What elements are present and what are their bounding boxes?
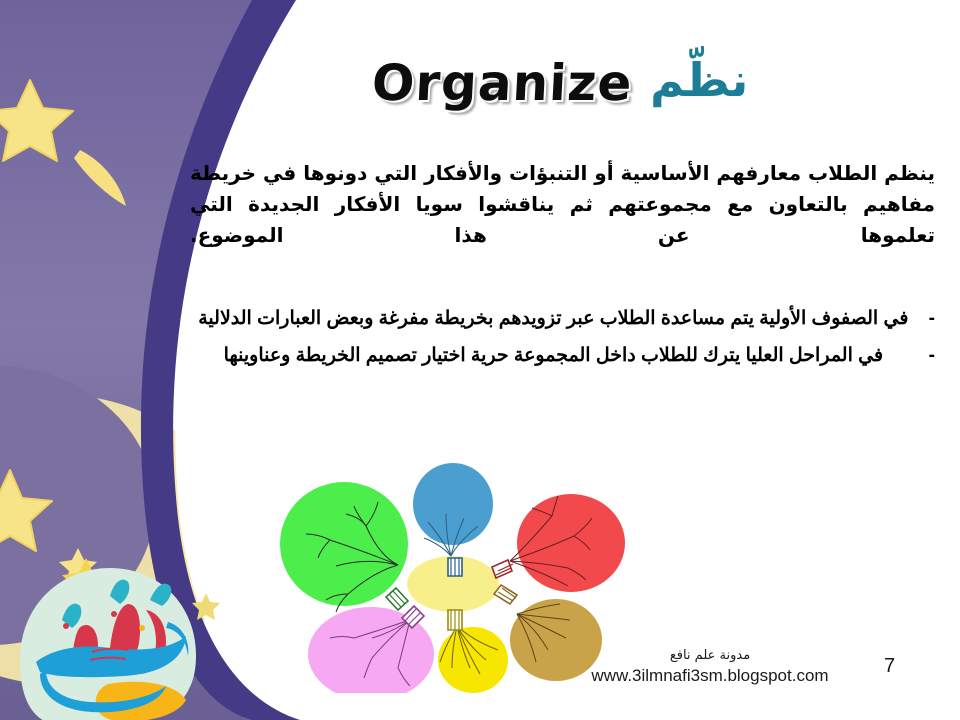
body-paragraph: ينظم الطلاب معارفهم الأساسية أو التنبؤات… <box>190 158 935 251</box>
list-item-text: في المراحل العليا يترك للطلاب داخل المجم… <box>190 342 917 371</box>
list-item-text: في الصفوف الأولية يتم مساعدة الطلاب عبر … <box>190 305 917 334</box>
footer-arabic: مدونة علم نافع <box>560 648 860 665</box>
connector-arm-green <box>386 588 408 610</box>
connector-arm-blue <box>448 558 462 576</box>
footer-url: www.3ilmnafi3sm.blogspot.com <box>560 665 860 687</box>
green-node <box>280 482 408 606</box>
list-item: - في المراحل العليا يترك للطلاب داخل الم… <box>190 342 935 371</box>
footer: مدونة علم نافع www.3ilmnafi3sm.blogspot.… <box>560 648 860 687</box>
slide-title: نظّم Organize <box>300 40 820 126</box>
title-english: Organize <box>370 54 633 112</box>
list-item: - في الصفوف الأولية يتم مساعدة الطلاب عب… <box>190 305 935 334</box>
blue-node <box>413 463 493 545</box>
connector-arm-yellow <box>448 610 462 630</box>
bullet-marker: - <box>929 305 935 334</box>
title-arabic: نظّم <box>650 57 748 109</box>
yellow-node <box>438 627 508 693</box>
bullet-list: - في الصفوف الأولية يتم مساعدة الطلاب عب… <box>190 305 935 378</box>
page-number: 7 <box>884 655 895 678</box>
connector-arm-red <box>492 560 513 578</box>
bullet-marker: - <box>929 342 935 371</box>
